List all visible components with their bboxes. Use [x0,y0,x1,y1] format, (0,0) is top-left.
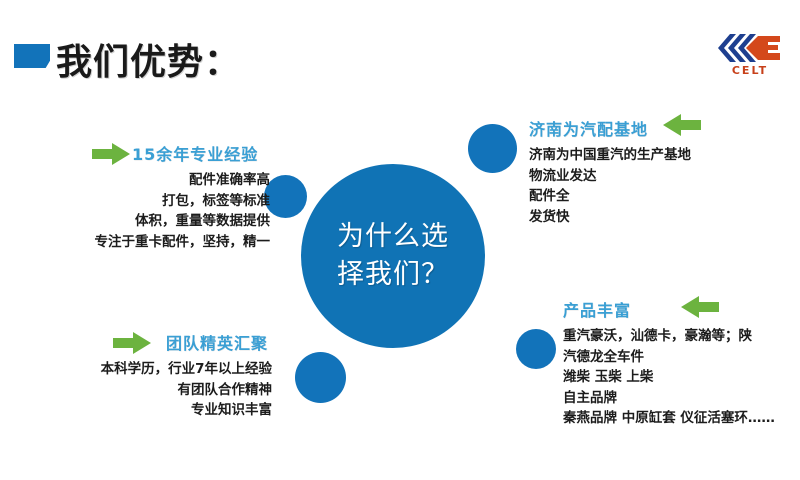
celt-logo-text: CELT [712,64,788,77]
center-question-line-2: 择我们？ [328,256,458,294]
feature-line: 打包，标签等标准 [0,191,270,212]
feature-body-team: 本科学历，行业7年以上经验 有团队合作精神 专业知识丰富 [0,359,290,421]
feature-line: 济南为中国重汽的生产基地 [529,145,791,166]
feature-line: 体积，重量等数据提供 [0,211,270,232]
feature-line: 有团队合作精神 [0,380,272,401]
feature-heading-products: 产品丰富 [563,297,800,321]
feature-body-base: 济南为中国重汽的生产基地 物流业发达 配件全 发货快 [529,145,791,227]
feature-line: 发货快 [529,207,791,228]
feature-block-experience: 15余年专业经验 配件准确率高 打包，标签等标准 体积，重量等数据提供 专注于重… [0,141,288,252]
feature-heading-team: 团队精英汇聚 [166,330,290,354]
page-title: 我们优势： [56,33,241,85]
feature-heading-experience: 15余年专业经验 [132,141,288,165]
slide-canvas: 我们优势： CELT 为什么选 择我们？ [0,0,800,480]
feature-line: 配件全 [529,186,791,207]
feature-line: 专业知识丰富 [0,400,272,421]
feature-line: 本科学历，行业7年以上经验 [0,359,272,380]
accent-circle-bottom-left [295,352,346,403]
title-marker-icon [14,44,50,68]
center-question-line-1: 为什么选 [328,218,458,256]
feature-line: 重汽豪沃，汕德卡，豪瀚等；陕 [563,326,800,347]
feature-block-base: 济南为汽配基地 济南为中国重汽的生产基地 物流业发达 配件全 发货快 [529,116,791,227]
center-question: 为什么选 择我们？ [301,164,485,348]
celt-logo-mark [712,28,788,68]
celt-logo: CELT [712,28,788,80]
feature-block-team: 团队精英汇聚 本科学历，行业7年以上经验 有团队合作精神 专业知识丰富 [0,330,290,421]
feature-line: 秦燕品牌 中原缸套 仪征活塞环…… [563,408,800,429]
accent-circle-bottom-right [516,329,556,369]
feature-line: 专注于重卡配件，坚持，精一 [0,232,270,253]
feature-body-experience: 配件准确率高 打包，标签等标准 体积，重量等数据提供 专注于重卡配件，坚持，精一 [0,170,288,252]
feature-body-products: 重汽豪沃，汕德卡，豪瀚等；陕 汽德龙全车件 潍柴 玉柴 上柴 自主品牌 秦燕品牌… [563,326,800,429]
feature-line: 汽德龙全车件 [563,347,800,368]
feature-line: 物流业发达 [529,166,791,187]
feature-line: 自主品牌 [563,388,800,409]
feature-block-products: 产品丰富 重汽豪沃，汕德卡，豪瀚等；陕 汽德龙全车件 潍柴 玉柴 上柴 自主品牌… [563,297,800,429]
feature-line: 潍柴 玉柴 上柴 [563,367,800,388]
feature-line: 配件准确率高 [0,170,270,191]
feature-heading-base: 济南为汽配基地 [529,116,791,140]
